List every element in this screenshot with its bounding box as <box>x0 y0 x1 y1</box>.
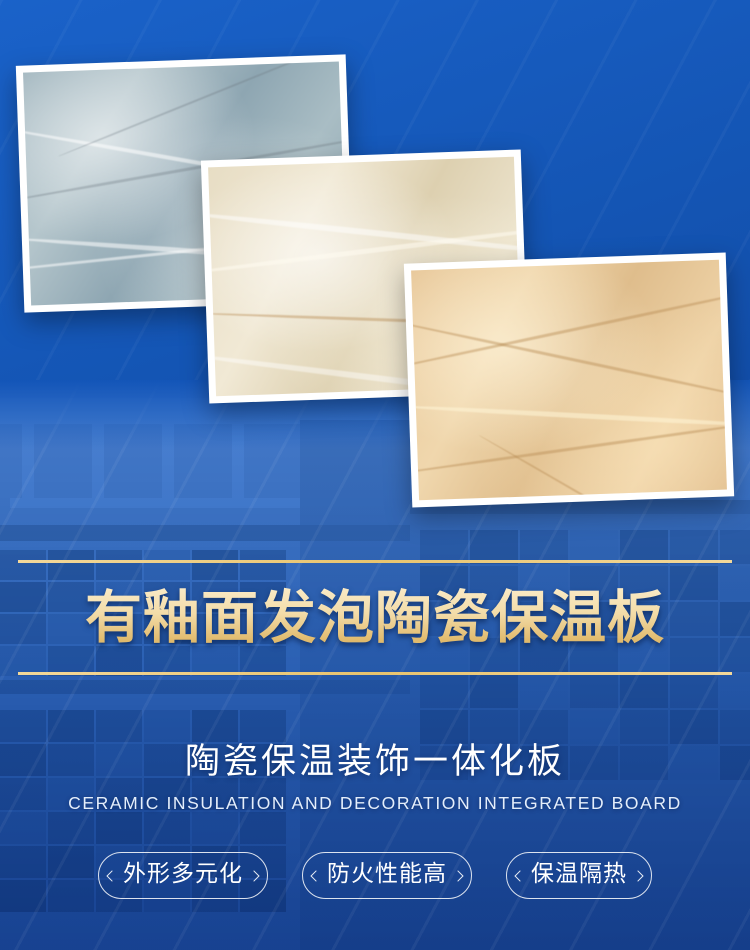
subtitle-english: CERAMIC INSULATION AND DECORATION INTEGR… <box>0 793 750 814</box>
title-band: 有釉面发泡陶瓷保温板 <box>0 552 750 682</box>
subtitle-chinese: 陶瓷保温装饰一体化板 <box>0 733 750 784</box>
poster-root: 有釉面发泡陶瓷保温板 陶瓷保温装饰一体化板 CERAMIC INSULATION… <box>0 0 750 950</box>
feature-pill-3: 保温隔热 <box>506 852 652 899</box>
feature-pill-1: 外形多元化 <box>98 852 268 899</box>
page-title: 有釉面发泡陶瓷保温板 <box>0 572 750 664</box>
feature-pill-2: 防火性能高 <box>302 852 472 899</box>
sample-tile-gold-marble-surface <box>411 260 727 501</box>
title-rule-bottom <box>18 672 732 675</box>
title-rule-top <box>18 560 732 563</box>
feature-pill-list: 外形多元化 防火性能高 保温隔热 <box>0 852 750 899</box>
sample-tile-gold-marble <box>404 252 734 507</box>
